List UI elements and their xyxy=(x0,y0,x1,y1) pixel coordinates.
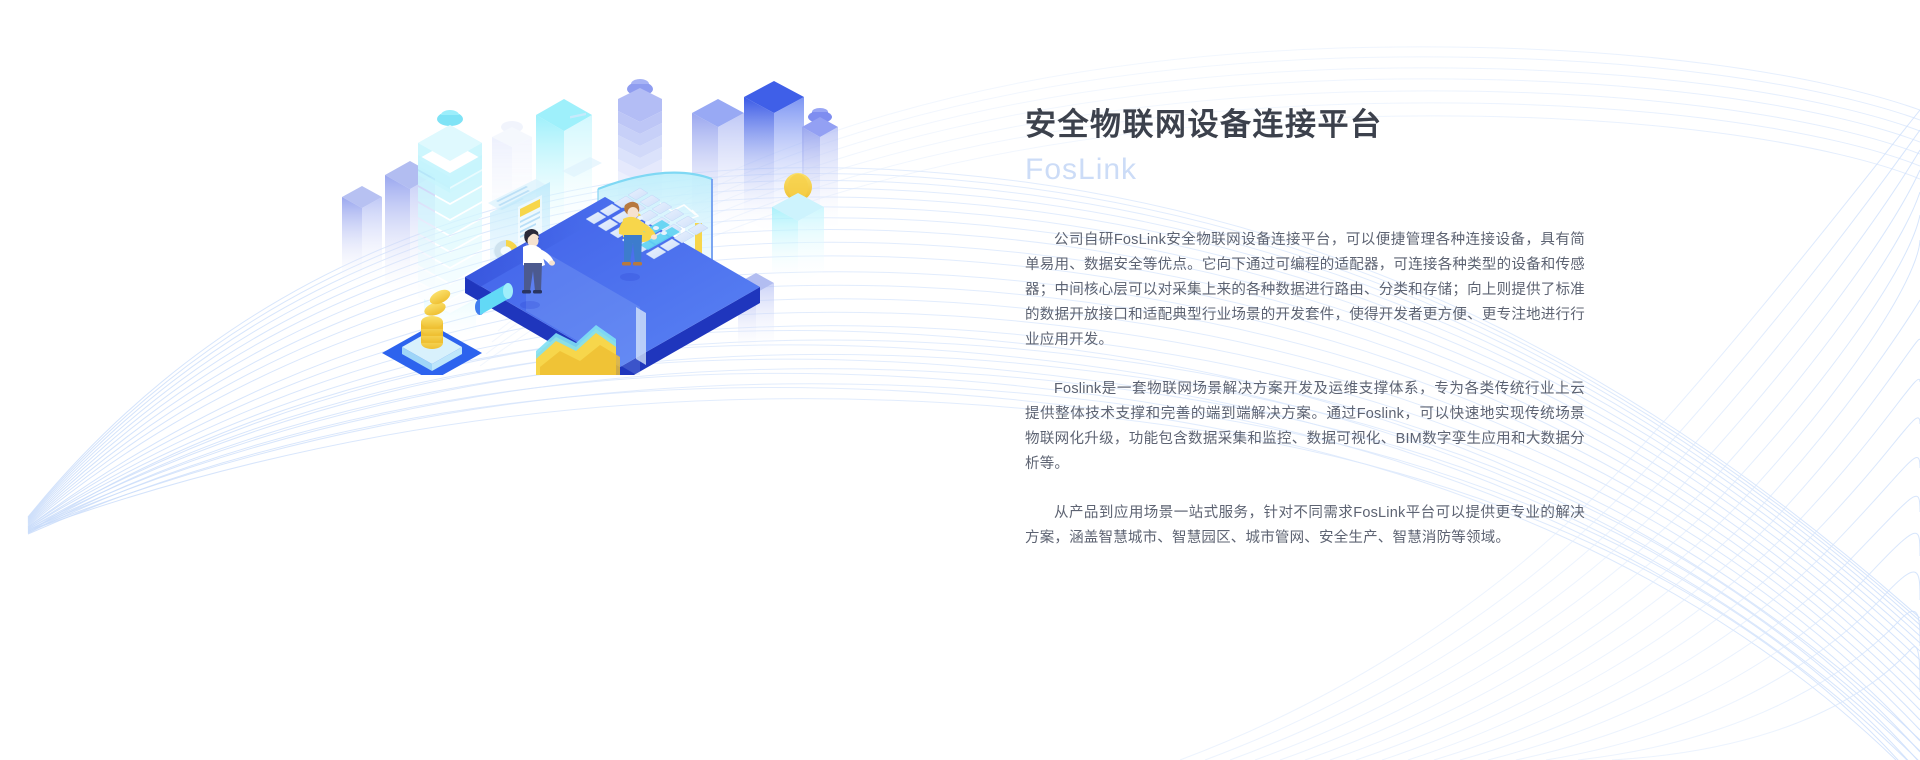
tower-far-left xyxy=(342,186,382,287)
paragraph-1: 公司自研FosLink安全物联网设备连接平台，可以便捷管理各种连接设备，具有简单… xyxy=(1025,228,1585,353)
description-block: 公司自研FosLink安全物联网设备连接平台，可以便捷管理各种连接设备，具有简单… xyxy=(1025,228,1585,551)
paragraph-2: Foslink是一套物联网场景解决方案开发及运维支撑体系，专为各类传统行业上云提… xyxy=(1025,377,1585,477)
background-wave-lines xyxy=(0,0,1920,760)
isometric-smart-city-illustration xyxy=(340,55,840,375)
hero-banner: 安全物联网设备连接平台 FosLink 公司自研FosLink安全物联网设备连接… xyxy=(0,0,1920,760)
paragraph-3: 从产品到应用场景一站式服务，针对不同需求FosLink平台可以提供更专业的解决方… xyxy=(1025,501,1585,551)
hero-text-column: 安全物联网设备连接平台 FosLink 公司自研FosLink安全物联网设备连接… xyxy=(1025,104,1585,551)
page-subtitle: FosLink xyxy=(1025,150,1585,191)
page-title: 安全物联网设备连接平台 xyxy=(1025,104,1585,146)
